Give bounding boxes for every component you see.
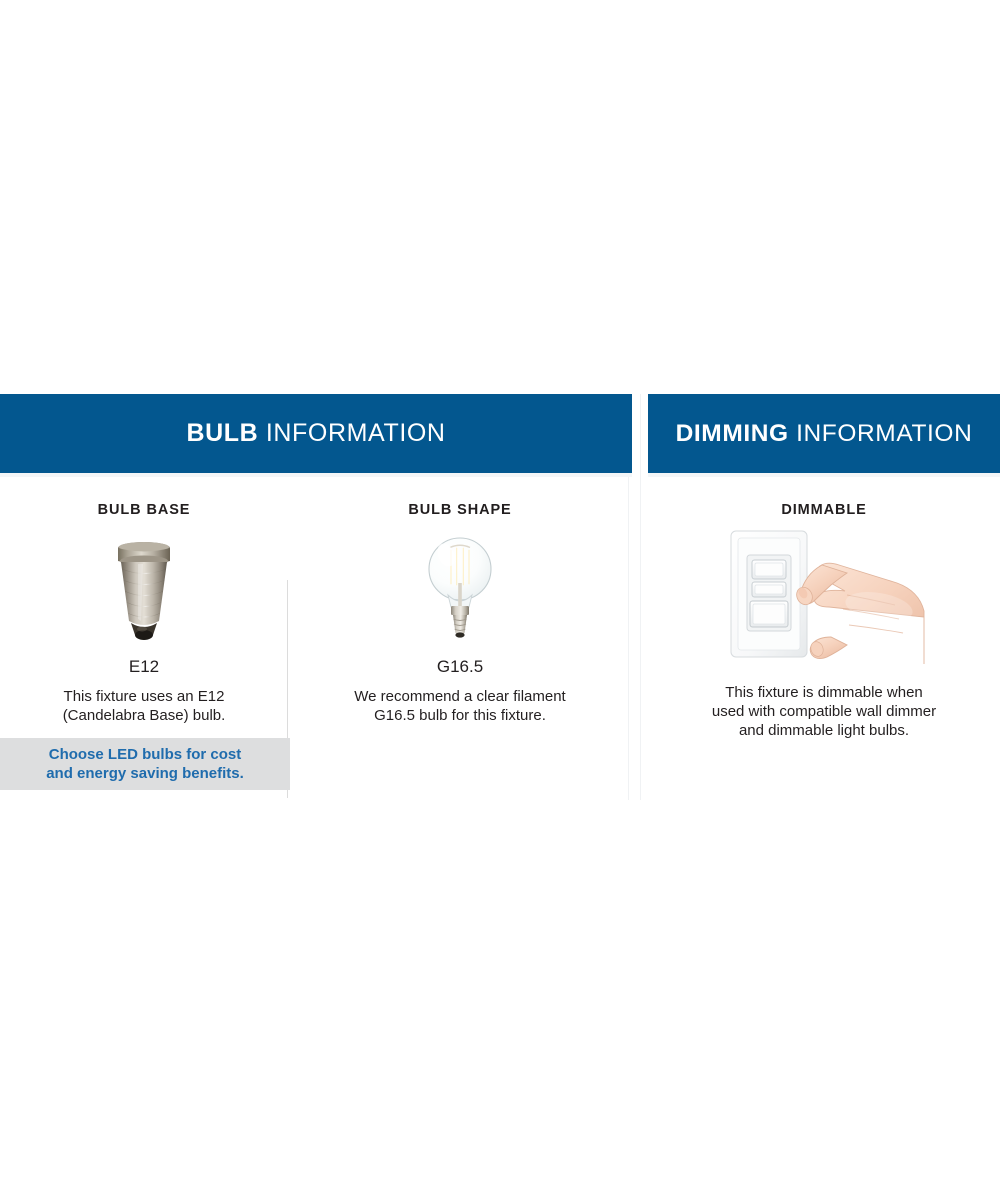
bulb-base-column: BULB BASE xyxy=(0,501,288,725)
bulb-information-banner: BULB INFORMATION xyxy=(0,394,632,473)
led-tip-callout: Choose LED bulbs for cost and energy sav… xyxy=(0,738,290,790)
bulb-shape-column: BULB SHAPE xyxy=(288,501,632,725)
bulb-information-banner-bold: BULB xyxy=(186,419,258,447)
dimming-information-banner-rest: INFORMATION xyxy=(789,420,973,447)
bulb-shape-heading: BULB SHAPE xyxy=(288,501,632,519)
dimming-information-panel: DIMMING INFORMATION DIMMABLE xyxy=(648,394,1000,794)
dimming-information-banner-bold: DIMMING xyxy=(676,420,789,447)
e12-lamp-base-icon xyxy=(0,527,288,645)
dimming-information-banner: DIMMING INFORMATION xyxy=(648,394,1000,473)
dimming-panel-body: DIMMABLE xyxy=(648,477,1000,740)
wall-dimmer-switch-with-hand-icon xyxy=(648,525,1000,665)
dimmable-column: DIMMABLE xyxy=(648,501,1000,740)
bulb-information-banner-title: BULB INFORMATION xyxy=(186,419,445,448)
bulb-panel-body: BULB BASE xyxy=(0,477,632,725)
bulb-shape-description: We recommend a clear filament G16.5 bulb… xyxy=(288,687,632,725)
info-panels: BULB INFORMATION BULB BASE xyxy=(0,394,1000,794)
bulb-information-panel: BULB INFORMATION BULB BASE xyxy=(0,394,632,794)
bulb-base-heading: BULB BASE xyxy=(0,501,288,519)
bulb-base-spec: E12 xyxy=(0,657,288,677)
dimmable-description: This fixture is dimmable when used with … xyxy=(648,683,1000,740)
led-tip-text: Choose LED bulbs for cost and energy sav… xyxy=(46,745,244,783)
dimmable-heading: DIMMABLE xyxy=(648,501,1000,519)
bulb-base-description: This fixture uses an E12 (Candelabra Bas… xyxy=(0,687,288,725)
bulb-shape-spec: G16.5 xyxy=(288,657,632,677)
dimming-information-banner-title: DIMMING INFORMATION xyxy=(676,420,973,448)
bulb-information-banner-rest: INFORMATION xyxy=(258,419,445,447)
g16-5-globe-bulb-icon xyxy=(288,527,632,645)
